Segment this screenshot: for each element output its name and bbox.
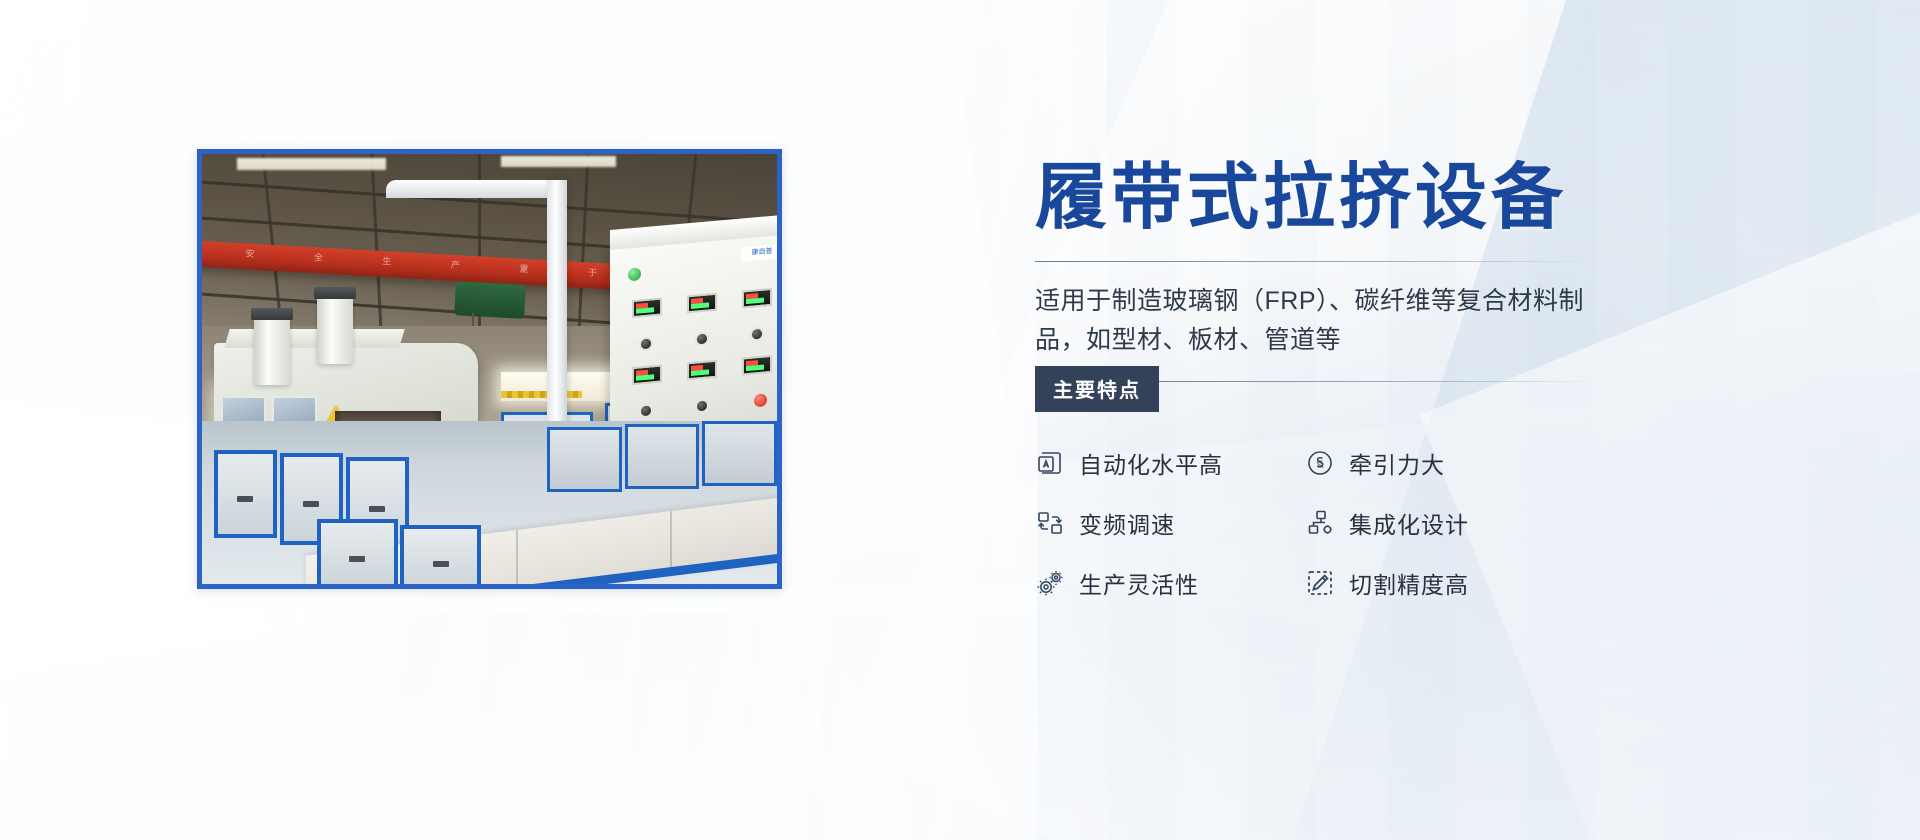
cut-accuracy-icon: [1305, 568, 1335, 598]
indicator-lamp-green: [629, 268, 642, 282]
panel-brand-badge: 康自普: [741, 244, 777, 262]
banner-content: 履带式拉挤设备 适用于制造玻璃钢（FRP）、碳纤维等复合材料制品，如型材、板材、…: [1035, 160, 1595, 600]
hydraulic-cylinder-2: [317, 296, 353, 364]
vfd-icon: [1035, 508, 1065, 538]
status-badge: 主要特点: [1035, 366, 1159, 412]
hydraulic-cylinder-1: [254, 317, 290, 385]
product-banner: 安全生产重于泰山: [0, 0, 1920, 840]
feature-item-vfd: 变频调速: [1035, 506, 1305, 540]
feature-list: 自动化水平高 牵引力大: [1035, 446, 1595, 600]
feature-item-integration: 集成化设计: [1305, 506, 1575, 540]
crane-hoist: [454, 281, 526, 319]
product-photo: 安全生产重于泰山: [202, 154, 777, 584]
feature-label: 生产灵活性: [1079, 566, 1199, 600]
traction-icon: [1305, 448, 1335, 478]
feature-label: 自动化水平高: [1079, 446, 1223, 480]
feature-item-flexibility: 生产灵活性: [1035, 566, 1305, 600]
yellow-rack: [501, 391, 582, 398]
gantry-arm: [386, 180, 559, 198]
title-divider: [1035, 261, 1595, 262]
gears-icon: [1035, 568, 1065, 598]
feature-label: 牵引力大: [1349, 446, 1445, 480]
feature-item-cut-accuracy: 切割精度高: [1305, 566, 1575, 600]
automation-icon: [1035, 448, 1065, 478]
feature-item-traction: 牵引力大: [1305, 446, 1575, 480]
feature-item-automation: 自动化水平高: [1035, 446, 1305, 480]
feature-label: 变频调速: [1079, 506, 1175, 540]
page-title: 履带式拉挤设备: [1035, 160, 1595, 235]
machine-base-run: [202, 421, 777, 584]
product-description: 适用于制造玻璃钢（FRP）、碳纤维等复合材料制品，如型材、板材、管道等: [1035, 282, 1595, 360]
integration-icon: [1305, 508, 1335, 538]
product-photo-frame: 安全生产重于泰山: [197, 149, 782, 589]
feature-label: 集成化设计: [1349, 506, 1469, 540]
indicator-lamp-red: [754, 393, 767, 407]
feature-label: 切割精度高: [1349, 566, 1469, 600]
